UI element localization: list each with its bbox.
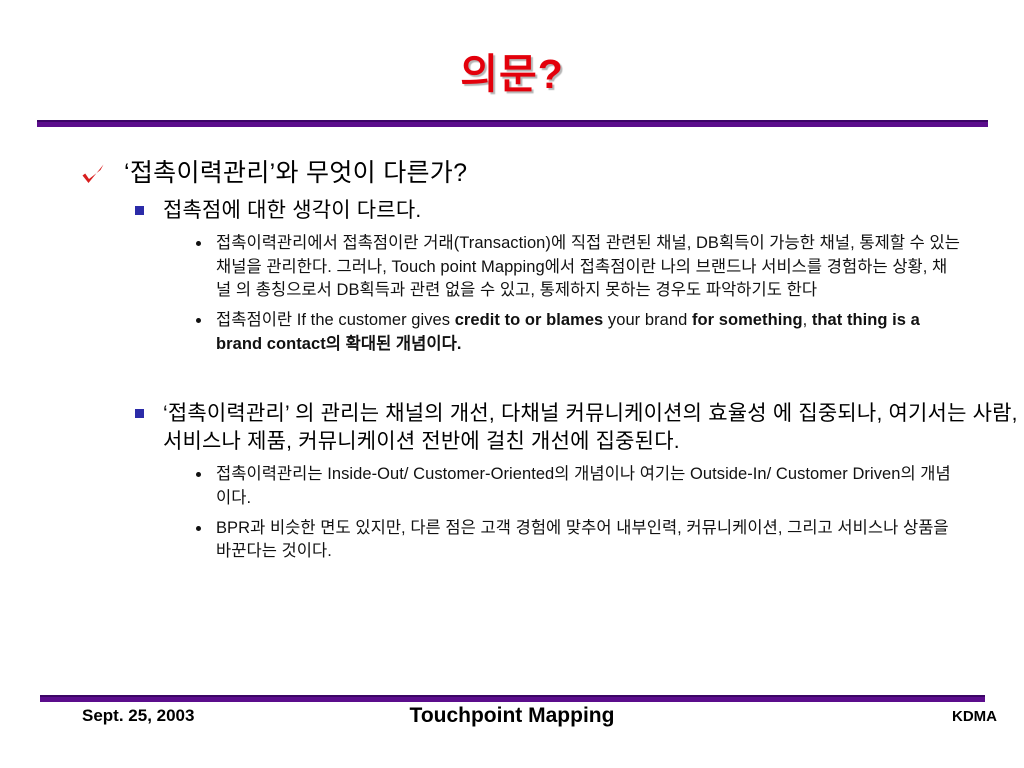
text-part-3: , xyxy=(803,311,812,329)
dot-bullet-icon xyxy=(196,472,201,477)
bullet-level1-label: ‘접촉이력관리’와 무엇이 다른가? xyxy=(124,159,467,187)
bullet-level2-b: ‘접촉이력관리’ 의 관리는 채널의 개선, 다채널 커뮤니케이션의 효율성 에… xyxy=(0,400,1024,456)
footer-title: Touchpoint Mapping xyxy=(0,704,1024,728)
title-area: 의문? xyxy=(0,52,1024,97)
dot-bullet-icon xyxy=(196,318,201,323)
bullet-level3-b2-label: BPR과 비슷한 면도 있지만, 다른 점은 고객 경험에 맞추어 내부인력, … xyxy=(216,519,949,560)
slide: 의문? ‘접촉이력관리’와 무엇이 다른가? 접촉점에 대한 생각이 다르다. … xyxy=(0,0,1024,768)
bullet-level3-a1: 접촉이력관리에서 접촉점이란 거래(Transaction)에 직접 관련된 채… xyxy=(0,232,1024,302)
bullet-level3-a1-label: 접촉이력관리에서 접촉점이란 거래(Transaction)에 직접 관련된 채… xyxy=(216,234,960,299)
square-bullet-icon xyxy=(135,409,144,418)
bullet-level2-a: 접촉점에 대한 생각이 다르다. xyxy=(0,197,1024,225)
check-icon xyxy=(80,162,106,188)
footer: Sept. 25, 2003 Touchpoint Mapping KDMA xyxy=(0,706,1024,736)
page-title: 의문? xyxy=(460,52,563,97)
dot-bullet-icon xyxy=(196,241,201,246)
bullet-level1: ‘접촉이력관리’와 무엇이 다른가? xyxy=(0,158,1024,189)
title-divider xyxy=(37,120,988,127)
text-bold-1: credit to or blames xyxy=(455,311,604,329)
bullet-level3-b1: 접촉이력관리는 Inside-Out/ Customer-Oriented의 개… xyxy=(0,463,1024,510)
square-bullet-icon xyxy=(135,206,144,215)
slide-body: ‘접촉이력관리’와 무엇이 다른가? 접촉점에 대한 생각이 다르다. 접촉이력… xyxy=(0,158,1024,564)
bullet-level3-a2: 접촉점이란 If the customer gives credit to or… xyxy=(0,309,1024,356)
bullet-level3-b2: BPR과 비슷한 면도 있지만, 다른 점은 고객 경험에 맞추어 내부인력, … xyxy=(0,517,1024,564)
text-part-1: 접촉점이란 If the customer gives xyxy=(216,311,455,329)
footer-divider xyxy=(40,695,985,702)
text-part-2: your brand xyxy=(603,311,692,329)
group-spacer xyxy=(0,356,1024,390)
bullet-level3-a2-label: 접촉점이란 If the customer gives credit to or… xyxy=(216,311,920,352)
footer-org: KDMA xyxy=(952,708,997,725)
dot-bullet-icon xyxy=(196,526,201,531)
bullet-level2-a-label: 접촉점에 대한 생각이 다르다. xyxy=(163,199,421,222)
text-bold-2: for something xyxy=(692,311,803,329)
bullet-level2-b-label: ‘접촉이력관리’ 의 관리는 채널의 개선, 다채널 커뮤니케이션의 효율성 에… xyxy=(163,402,1018,453)
bullet-level3-b1-label: 접촉이력관리는 Inside-Out/ Customer-Oriented의 개… xyxy=(216,465,951,506)
